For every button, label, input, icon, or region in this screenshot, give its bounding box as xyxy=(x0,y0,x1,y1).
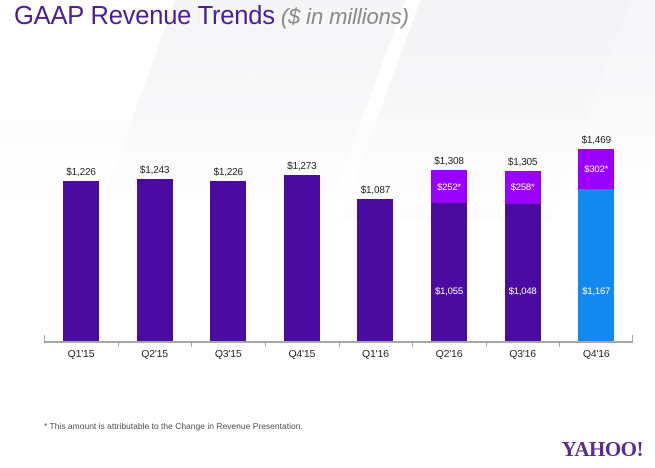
bar-q216[interactable]: $1,055$252* xyxy=(431,170,467,341)
x-axis-tick xyxy=(412,341,413,347)
bar-q415[interactable] xyxy=(284,175,320,341)
bar-q115[interactable] xyxy=(63,181,99,341)
x-axis-label-q315: Q3'15 xyxy=(193,348,263,360)
bar-segment[interactable] xyxy=(137,179,173,341)
bar-total-value-label: $1,243 xyxy=(120,165,190,176)
bar-q215[interactable] xyxy=(137,179,173,341)
bar-segment[interactable] xyxy=(578,189,614,341)
bar-q315[interactable] xyxy=(210,181,246,341)
bar-segment-value-label: $1,055 xyxy=(431,286,467,297)
bar-total-value-label: $1,087 xyxy=(340,185,410,196)
x-axis-label-q115: Q1'15 xyxy=(46,348,116,360)
x-axis-tick xyxy=(118,341,119,347)
bar-segment[interactable] xyxy=(284,175,320,341)
bar-segment[interactable] xyxy=(63,181,99,341)
x-axis-tick xyxy=(265,341,266,347)
bar-total-value-label: $1,308 xyxy=(414,156,484,167)
bar-segment-value-label: $302* xyxy=(578,164,614,175)
bar-total-value-label: $1,305 xyxy=(488,157,558,168)
x-axis-label-q215: Q2'15 xyxy=(120,348,190,360)
x-axis-label-q116: Q1'16 xyxy=(340,348,410,360)
x-axis-label-q415: Q4'15 xyxy=(267,348,337,360)
bar-chart-plot-area: $1,226$1,243$1,226$1,273$1,087$1,055$252… xyxy=(0,0,655,400)
footnote-text: * This amount is attributable to the Cha… xyxy=(44,421,303,431)
x-axis-tick xyxy=(191,341,192,347)
x-axis-end-cap xyxy=(632,335,633,342)
bar-segment[interactable] xyxy=(210,181,246,341)
bar-q116[interactable] xyxy=(357,199,393,341)
bar-q416[interactable]: $1,167$302* xyxy=(578,149,614,341)
x-axis-label-q316: Q3'16 xyxy=(488,348,558,360)
bar-total-value-label: $1,273 xyxy=(267,161,337,172)
bar-segment-value-label: $252* xyxy=(431,182,467,193)
x-axis-tick xyxy=(339,341,340,347)
yahoo-logo: YAHOO! xyxy=(562,437,643,462)
bar-segment[interactable] xyxy=(505,204,541,341)
bar-total-value-label: $1,226 xyxy=(193,167,263,178)
x-axis-label-q216: Q2'16 xyxy=(414,348,484,360)
x-axis-tick xyxy=(559,341,560,347)
bar-segment-value-label: $1,167 xyxy=(578,286,614,297)
bar-total-value-label: $1,226 xyxy=(46,167,116,178)
slide-canvas: GAAP Revenue Trends($ in millions) $1,22… xyxy=(0,0,655,468)
x-axis-start-cap xyxy=(44,335,45,342)
bar-total-value-label: $1,469 xyxy=(561,135,631,146)
x-axis-tick xyxy=(486,341,487,347)
bar-segment[interactable] xyxy=(431,203,467,341)
bar-segment-value-label: $1,048 xyxy=(505,286,541,297)
x-axis-label-q416: Q4'16 xyxy=(561,348,631,360)
bar-segment[interactable] xyxy=(357,199,393,341)
bar-q316[interactable]: $1,048$258* xyxy=(505,171,541,341)
bar-segment-value-label: $258* xyxy=(505,182,541,193)
